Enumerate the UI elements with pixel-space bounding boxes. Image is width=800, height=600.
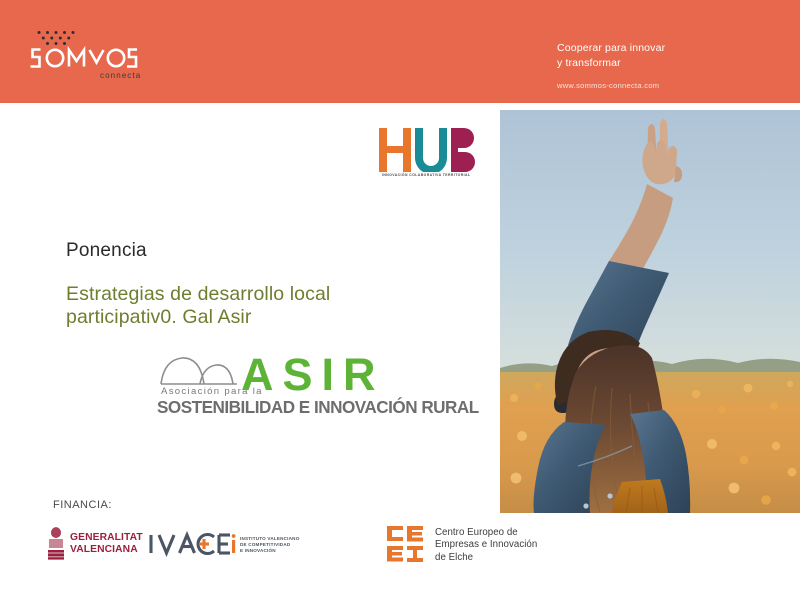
financia-label: FINANCIA: [53, 499, 112, 511]
asir-hills-icon [160, 351, 238, 390]
generalitat-line2: VALENCIANA [70, 544, 143, 556]
header-band: connecta Cooperar para innovar y transfo… [0, 0, 800, 103]
generalitat-line1: GENERALITAT [70, 532, 143, 544]
sommos-connecta-label: connecta [100, 71, 141, 80]
hub-logo: INNOVACIÓN COLABORATIVA TERRITORIAL [379, 128, 475, 184]
ceei-description: Centro Europeo de Empresas e Innovación … [435, 527, 537, 564]
generalitat-wordmark: GENERALITAT VALENCIANA [70, 532, 143, 555]
hub-letters-mark [379, 128, 475, 177]
hero-photo [500, 110, 800, 513]
header-website-url: www.sommos-connecta.com [557, 81, 659, 90]
hub-logo-subtitle: INNOVACIÓN COLABORATIVA TERRITORIAL [382, 173, 470, 177]
header-tagline-line1: Cooperar para innovar [557, 41, 665, 56]
page-kicker: Ponencia [66, 240, 147, 262]
ceei-elche-logo: Centro Europeo de Empresas e Innovación … [387, 524, 547, 566]
ivace-subtitle: INSTITUTO VALENCIANO DE COMPETITIVIDAD E… [240, 536, 299, 554]
asir-logo: Asociación para la ASIR SOSTENIBILIDAD E… [155, 351, 387, 419]
asir-full-name: SOSTENIBILIDAD E INNOVACIÓN RURAL [157, 397, 479, 418]
header-tagline-line2: y transformar [557, 56, 665, 71]
ceei-line2: Empresas e Innovación [435, 539, 537, 551]
generalitat-valenciana-logo: GENERALITAT VALENCIANA [45, 526, 137, 562]
header-tagline: Cooperar para innovar y transformar [557, 41, 665, 71]
generalitat-crest-icon [45, 526, 67, 567]
hero-photo-illustration [500, 110, 800, 513]
asir-acronym: ASIR [241, 352, 385, 397]
ceei-mark-icon [387, 525, 429, 568]
ceei-line1: Centro Europeo de [435, 527, 537, 539]
page-title: Estrategias de desarrollo local particip… [66, 283, 396, 329]
ceei-line3: de Elche [435, 552, 537, 564]
ivace-wordmark [148, 531, 238, 562]
sommos-wordmark [28, 46, 140, 70]
presentation-slide: connecta Cooperar para innovar y transfo… [0, 0, 800, 600]
ivace-sub-line3: E INNOVACIÓN [240, 548, 299, 554]
ivace-logo: INSTITUTO VALENCIANO DE COMPETITIVIDAD E… [148, 531, 300, 561]
sommos-connecta-logo: connecta [28, 30, 158, 86]
